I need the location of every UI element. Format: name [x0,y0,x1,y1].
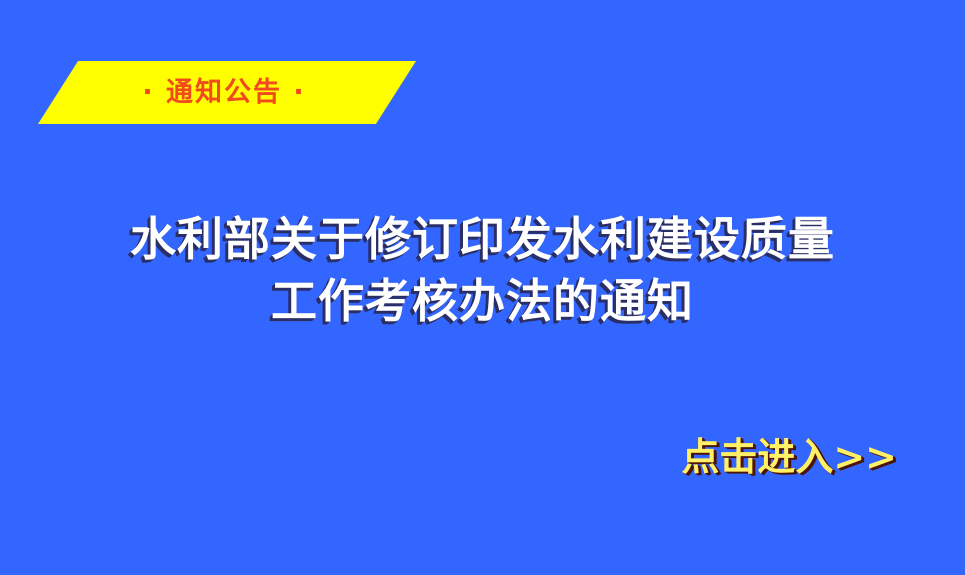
notice-ribbon: · 通知公告 · [38,61,416,124]
enter-link[interactable]: 点击进入>> [0,434,965,480]
page-title-line-2: 工作考核办法的通知 [0,270,965,332]
page-title: 水利部关于修订印发水利建设质量 工作考核办法的通知 [0,208,965,332]
announcement-poster: · 通知公告 · 水利部关于修订印发水利建设质量 工作考核办法的通知 点击进入>… [0,0,965,575]
page-title-line-1: 水利部关于修订印发水利建设质量 [0,208,965,270]
ribbon-label: · 通知公告 · [38,61,416,124]
